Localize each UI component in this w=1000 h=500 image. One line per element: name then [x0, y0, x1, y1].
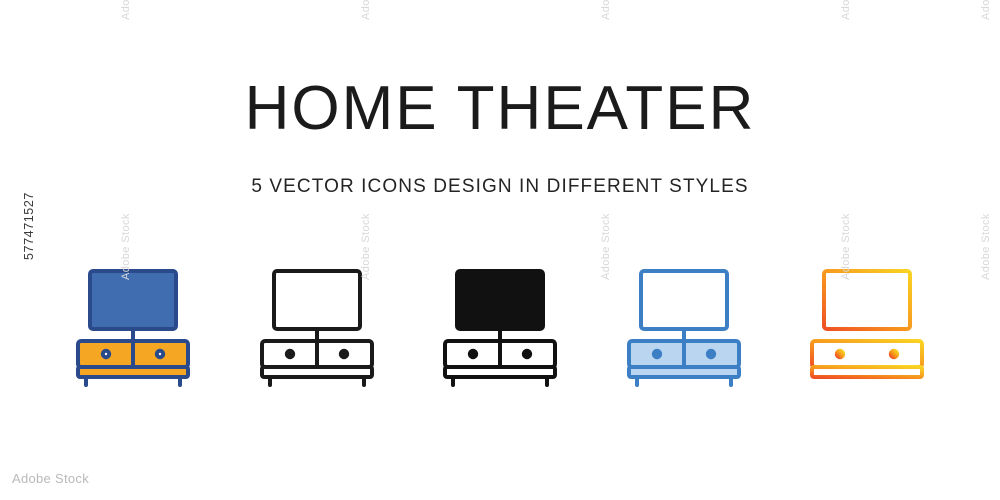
- watermark-tile: Adobe Stock: [840, 213, 852, 280]
- watermark-tile: Adobe Stock: [980, 213, 992, 280]
- watermark-tile: Adobe Stock: [840, 0, 852, 20]
- icon-home-theater-outline[interactable]: [242, 262, 392, 392]
- icon-home-theater-gradient[interactable]: [792, 262, 942, 392]
- watermark-tile: Adobe Stock: [600, 0, 612, 20]
- watermark-corner-label: Adobe Stock: [12, 471, 89, 486]
- canvas: HOME THEATER 5 VECTOR ICONS DESIGN IN DI…: [0, 0, 1000, 500]
- home-theater-gradient-svg: [802, 265, 932, 389]
- home-theater-glyph-svg: [435, 265, 565, 389]
- watermark-tile: Adobe Stock: [600, 213, 612, 280]
- watermark-tile: Adobe Stock: [120, 213, 132, 280]
- watermark-tile: Adobe Stock: [360, 0, 372, 20]
- page-title: HOME THEATER: [0, 72, 1000, 146]
- home-theater-blue-duotone-svg: [619, 265, 749, 389]
- watermark-tile: Adobe Stock: [980, 0, 992, 20]
- icon-home-theater-flat-color[interactable]: [58, 262, 208, 392]
- icon-row: [0, 262, 1000, 402]
- watermark-tile: Adobe Stock: [120, 0, 132, 20]
- watermark-tile: Adobe Stock: [360, 213, 372, 280]
- home-theater-flat-color-svg: [68, 265, 198, 389]
- icon-home-theater-blue-duotone[interactable]: [609, 262, 759, 392]
- icon-home-theater-glyph[interactable]: [425, 262, 575, 392]
- page-subtitle: 5 VECTOR ICONS DESIGN IN DIFFERENT STYLE…: [0, 175, 1000, 199]
- home-theater-outline-svg: [252, 265, 382, 389]
- watermark-stock-id: 577471527: [22, 192, 36, 260]
